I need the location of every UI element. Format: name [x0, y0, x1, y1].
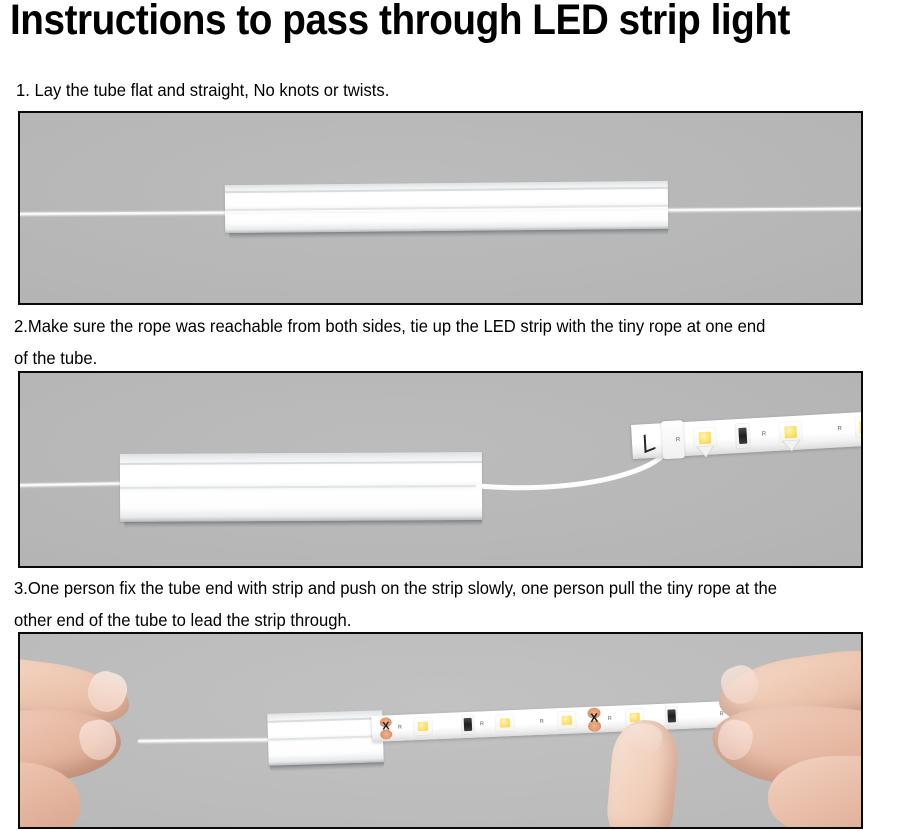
led-emitter — [561, 715, 572, 725]
tube-center-groove — [268, 736, 383, 742]
page-title: Instructions to pass through LED strip l… — [10, 0, 802, 44]
led-polarity-arrow — [696, 445, 715, 457]
step-2-caption: 2.Make sure the rope was reachable from … — [14, 310, 765, 374]
step-1-figure — [18, 111, 863, 305]
step-2-caption-line-1: 2.Make sure the rope was reachable from … — [14, 310, 765, 342]
resistor-body — [464, 718, 472, 730]
right-hand-holding-strip — [696, 632, 863, 829]
strip-resistor — [735, 423, 750, 448]
strip-print-text: R — [762, 431, 767, 437]
diffuser-tube — [120, 452, 482, 522]
led-chip — [557, 711, 576, 729]
led-emitter — [784, 426, 797, 438]
tube-center-groove — [120, 485, 482, 489]
led-emitter — [859, 421, 863, 433]
tube-top-groove — [267, 717, 382, 723]
led-chip — [855, 416, 863, 437]
diffuser-tube — [267, 710, 384, 766]
step-1-caption: 1. Lay the tube flat and straight, No kn… — [16, 74, 389, 106]
led-emitter — [418, 721, 429, 731]
step-3-caption: 3.One person fix the tube end with strip… — [14, 572, 777, 636]
led-chip — [496, 714, 515, 732]
tube-top-groove — [120, 461, 482, 465]
pushing-finger-nail — [624, 724, 662, 754]
left-hand-pulling-rope — [18, 644, 170, 829]
strip-resistor — [462, 715, 475, 734]
instruction-sheet: Instructions to pass through LED strip l… — [0, 0, 900, 831]
pad-cross-marker: X — [587, 711, 600, 724]
strip-print-text: R — [676, 437, 681, 443]
led-polarity-arrow — [782, 440, 801, 452]
led-emitter — [698, 432, 711, 444]
strip-print-text: R — [480, 722, 484, 728]
step-1-caption-line-1: 1. Lay the tube flat and straight, No kn… — [16, 74, 389, 106]
step-3-figure: X R R R X R — [18, 632, 863, 829]
pad-cross-marker: X — [380, 721, 392, 732]
strip-print-text: R — [398, 725, 402, 731]
diffuser-tube — [225, 181, 668, 233]
step-2-caption-line-2: of the tube. — [14, 342, 765, 374]
strip-print-text: R — [540, 719, 544, 725]
step-3-caption-line-1: 3.One person fix the tube end with strip… — [14, 572, 777, 604]
rope-knot-wrap — [661, 420, 685, 459]
resistor-body — [738, 428, 747, 444]
led-chip — [414, 717, 433, 735]
tube-top-groove — [225, 187, 668, 193]
step-2-figure: R R R — [18, 371, 863, 568]
led-emitter — [499, 718, 510, 728]
strip-print-text: R — [837, 426, 842, 432]
